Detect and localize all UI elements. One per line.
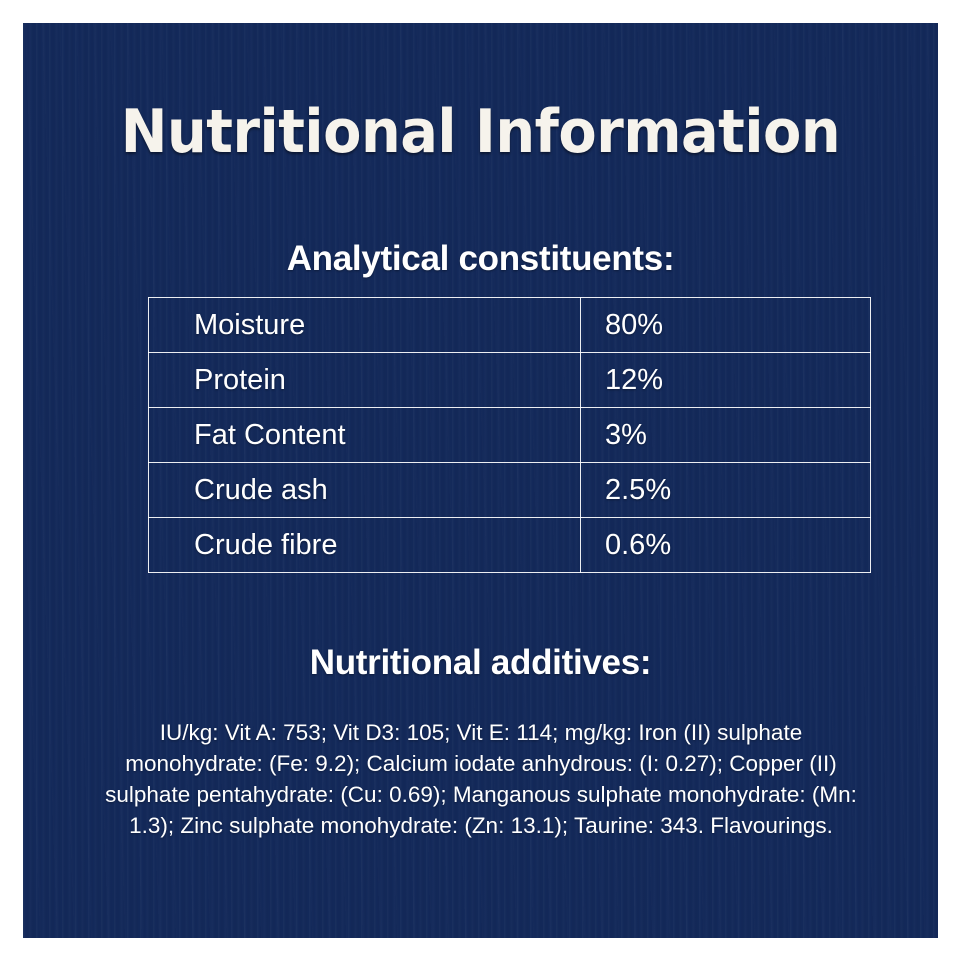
table-cell-value: 0.6% [581, 518, 871, 573]
table-cell-value: 3% [581, 408, 871, 463]
table-row: Fat Content 3% [149, 408, 871, 463]
table-cell-nutrient: Fat Content [149, 408, 581, 463]
table-row: Moisture 80% [149, 298, 871, 353]
table-body: Moisture 80% Protein 12% Fat Content 3% … [149, 298, 871, 573]
analytical-constituents-heading: Analytical constituents: [23, 239, 938, 279]
table-row: Protein 12% [149, 353, 871, 408]
table-cell-nutrient: Protein [149, 353, 581, 408]
table-cell-value: 80% [581, 298, 871, 353]
page-title: Nutritional Information [55, 101, 906, 163]
nutrition-panel: Nutritional Information Analytical const… [23, 23, 938, 938]
panel-content: Nutritional Information Analytical const… [23, 23, 938, 938]
nutritional-additives-heading: Nutritional additives: [23, 643, 938, 683]
nutrition-label-page: Nutritional Information Analytical const… [0, 0, 960, 960]
table-cell-value: 2.5% [581, 463, 871, 518]
table-cell-value: 12% [581, 353, 871, 408]
table-row: Crude fibre 0.6% [149, 518, 871, 573]
table-cell-nutrient: Crude fibre [149, 518, 581, 573]
table-cell-nutrient: Crude ash [149, 463, 581, 518]
analytical-constituents-table: Moisture 80% Protein 12% Fat Content 3% … [148, 297, 871, 573]
table-cell-nutrient: Moisture [149, 298, 581, 353]
nutritional-additives-text: IU/kg: Vit A: 753; Vit D3: 105; Vit E: 1… [101, 717, 861, 841]
table-row: Crude ash 2.5% [149, 463, 871, 518]
